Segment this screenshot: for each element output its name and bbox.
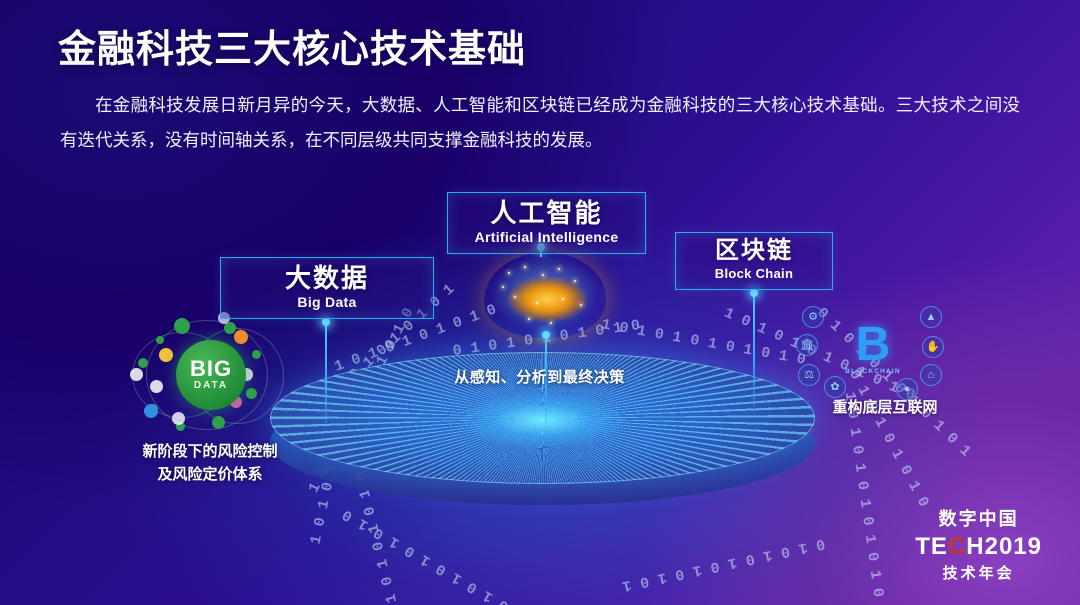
connector-stem-block-chain	[753, 293, 755, 418]
binary-segment: 1 0 1 0 1 0 1 0 1 0 1 0	[841, 391, 887, 598]
blockchain-b-letter: B	[856, 325, 891, 366]
intro-paragraph: 在金融科技发展日新月异的今天，大数据、人工智能和区块链已经成为金融科技的三大核心…	[60, 88, 1020, 158]
label-block-chain-en: Block Chain	[676, 266, 832, 282]
home-icon: ⌂	[920, 364, 942, 386]
caption-big-data-line2: 及风险定价体系	[105, 464, 315, 487]
logo-line-annual-conference: 技术年会	[915, 562, 1042, 583]
scales-icon: ⚖	[798, 364, 820, 386]
connector-dot-icon	[322, 318, 330, 326]
gear-icon: ⚙	[802, 306, 824, 328]
label-box-block-chain[interactable]: 区块链 Block Chain	[675, 232, 833, 290]
logo-line-digital-china: 数字中国	[915, 505, 1042, 531]
big-data-green-circle-icon: BIG DATA	[176, 340, 246, 410]
label-big-data-cn: 大数据	[221, 264, 433, 293]
leaf-icon: ✿	[824, 376, 846, 398]
logo-line-tech2019: TECH2019	[915, 533, 1042, 561]
page-title: 金融科技三大核心技术基础	[58, 18, 526, 73]
logo-accent-letter: C	[948, 533, 966, 560]
label-big-data-en: Big Data	[221, 294, 433, 312]
connector-stem-big-data	[325, 322, 327, 432]
caption-block-chain: 重构底层互联网	[800, 396, 970, 417]
event-logo: 数字中国 TECH2019 技术年会	[915, 505, 1042, 583]
blockchain-icon-cluster: ⚙ ▲ 🏛 ✋ ⚖ ⌂ ✿ ● B BLOCKCHAIN	[796, 306, 946, 404]
big-data-core-line2: DATA	[194, 380, 228, 391]
caption-artificial-intelligence: 从感知、分析到最终决策	[432, 366, 647, 387]
connector-dot-icon	[750, 289, 758, 297]
big-data-icon-cluster: BIG DATA	[128, 312, 288, 438]
label-box-big-data[interactable]: 大数据 Big Data	[220, 257, 434, 319]
label-ai-cn: 人工智能	[448, 199, 645, 228]
chart-bar-icon: ▲	[920, 306, 942, 328]
label-box-artificial-intelligence[interactable]: 人工智能 Artificial Intelligence	[447, 192, 646, 254]
big-data-core-line1: BIG	[190, 359, 232, 380]
binary-segment: 0 1 0 1 0 1 0 1 0 1 0 1	[620, 535, 826, 595]
label-ai-en: Artificial Intelligence	[448, 229, 645, 247]
caption-big-data: 新阶段下的风险控制 及风险定价体系	[105, 441, 315, 486]
presentation-slide: 1 0 1 0 1 0 1 0 1 0 1 0 0 1 0 1 0 1 0 1 …	[0, 0, 1080, 605]
caption-big-data-line1: 新阶段下的风险控制	[105, 441, 315, 464]
label-block-chain-cn: 区块链	[676, 238, 832, 265]
bank-icon: 🏛	[796, 334, 818, 356]
blockchain-core-label: BLOCKCHAIN	[845, 368, 901, 375]
blockchain-pixel-b-icon: B BLOCKCHAIN	[844, 314, 902, 386]
glowing-brain-icon	[484, 252, 606, 338]
handshake-icon: ✋	[922, 336, 944, 358]
